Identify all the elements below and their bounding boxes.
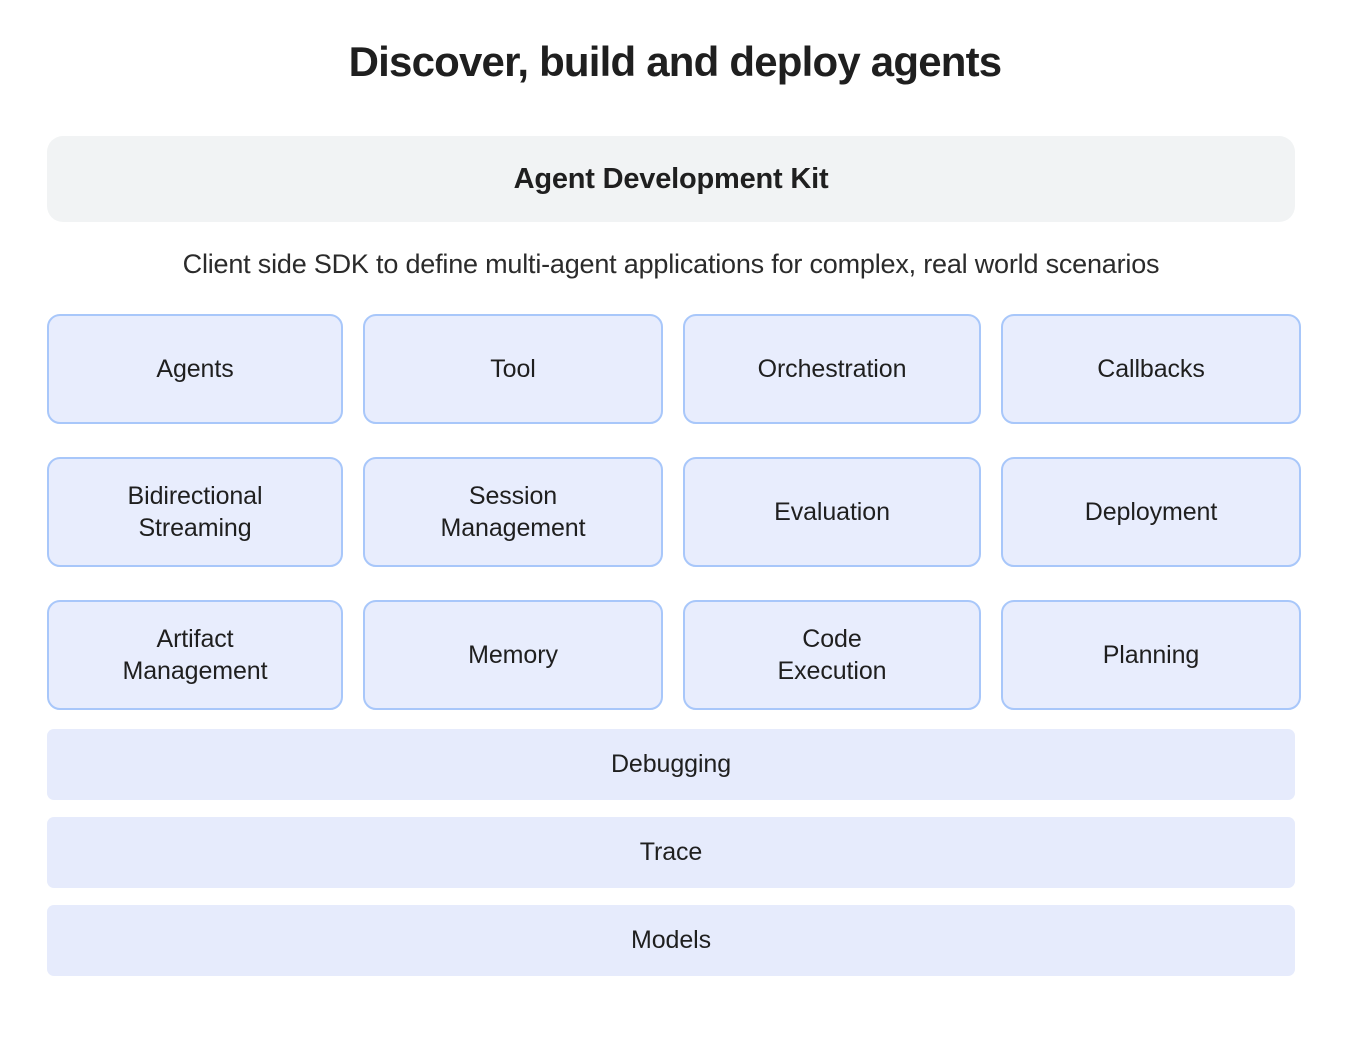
adk-header-banner: Agent Development Kit <box>47 136 1295 222</box>
capability-card-bidirectional-streaming[interactable]: Bidirectional Streaming <box>47 457 343 567</box>
capability-row-1: Agents Tool Orchestration Callbacks <box>47 314 1295 424</box>
capability-card-label: Code Execution <box>778 623 887 687</box>
foundation-bar-label: Trace <box>640 838 702 867</box>
capability-card-artifact-management[interactable]: Artifact Management <box>47 600 343 710</box>
capability-card-label: Tool <box>490 353 535 385</box>
capability-card-label: Deployment <box>1085 496 1217 528</box>
foundation-bar-debugging[interactable]: Debugging <box>47 729 1295 800</box>
capability-card-label: Artifact Management <box>123 623 268 687</box>
capability-card-orchestration[interactable]: Orchestration <box>683 314 981 424</box>
capability-card-deployment[interactable]: Deployment <box>1001 457 1301 567</box>
capability-card-planning[interactable]: Planning <box>1001 600 1301 710</box>
capability-card-session-management[interactable]: Session Management <box>363 457 663 567</box>
capability-card-evaluation[interactable]: Evaluation <box>683 457 981 567</box>
capability-row-2: Bidirectional Streaming Session Manageme… <box>47 457 1295 567</box>
foundation-bar-trace[interactable]: Trace <box>47 817 1295 888</box>
capability-card-callbacks[interactable]: Callbacks <box>1001 314 1301 424</box>
capability-card-label: Evaluation <box>774 496 890 528</box>
capability-row-3: Artifact Management Memory Code Executio… <box>47 600 1295 710</box>
capability-card-label: Bidirectional Streaming <box>128 480 263 544</box>
capability-grid: Agents Tool Orchestration Callbacks Bidi… <box>47 314 1295 710</box>
foundation-bar-models[interactable]: Models <box>47 905 1295 976</box>
capability-card-agents[interactable]: Agents <box>47 314 343 424</box>
capability-card-tool[interactable]: Tool <box>363 314 663 424</box>
capability-card-label: Planning <box>1103 639 1200 671</box>
adk-subtitle: Client side SDK to define multi-agent ap… <box>47 222 1295 280</box>
adk-stack: Agent Development Kit Client side SDK to… <box>47 136 1295 976</box>
foundation-bar-label: Debugging <box>611 750 731 779</box>
capability-card-label: Agents <box>156 353 233 385</box>
capability-card-memory[interactable]: Memory <box>363 600 663 710</box>
page-title: Discover, build and deploy agents <box>0 0 1350 86</box>
adk-header-label: Agent Development Kit <box>514 163 829 196</box>
capability-card-code-execution[interactable]: Code Execution <box>683 600 981 710</box>
foundation-bar-label: Models <box>631 926 711 955</box>
foundation-bars: Debugging Trace Models <box>47 729 1295 976</box>
capability-card-label: Memory <box>468 639 558 671</box>
capability-card-label: Session Management <box>441 480 586 544</box>
capability-card-label: Orchestration <box>758 353 907 385</box>
capability-card-label: Callbacks <box>1097 353 1204 385</box>
adk-architecture-diagram: Discover, build and deploy agents Agent … <box>0 0 1350 1060</box>
